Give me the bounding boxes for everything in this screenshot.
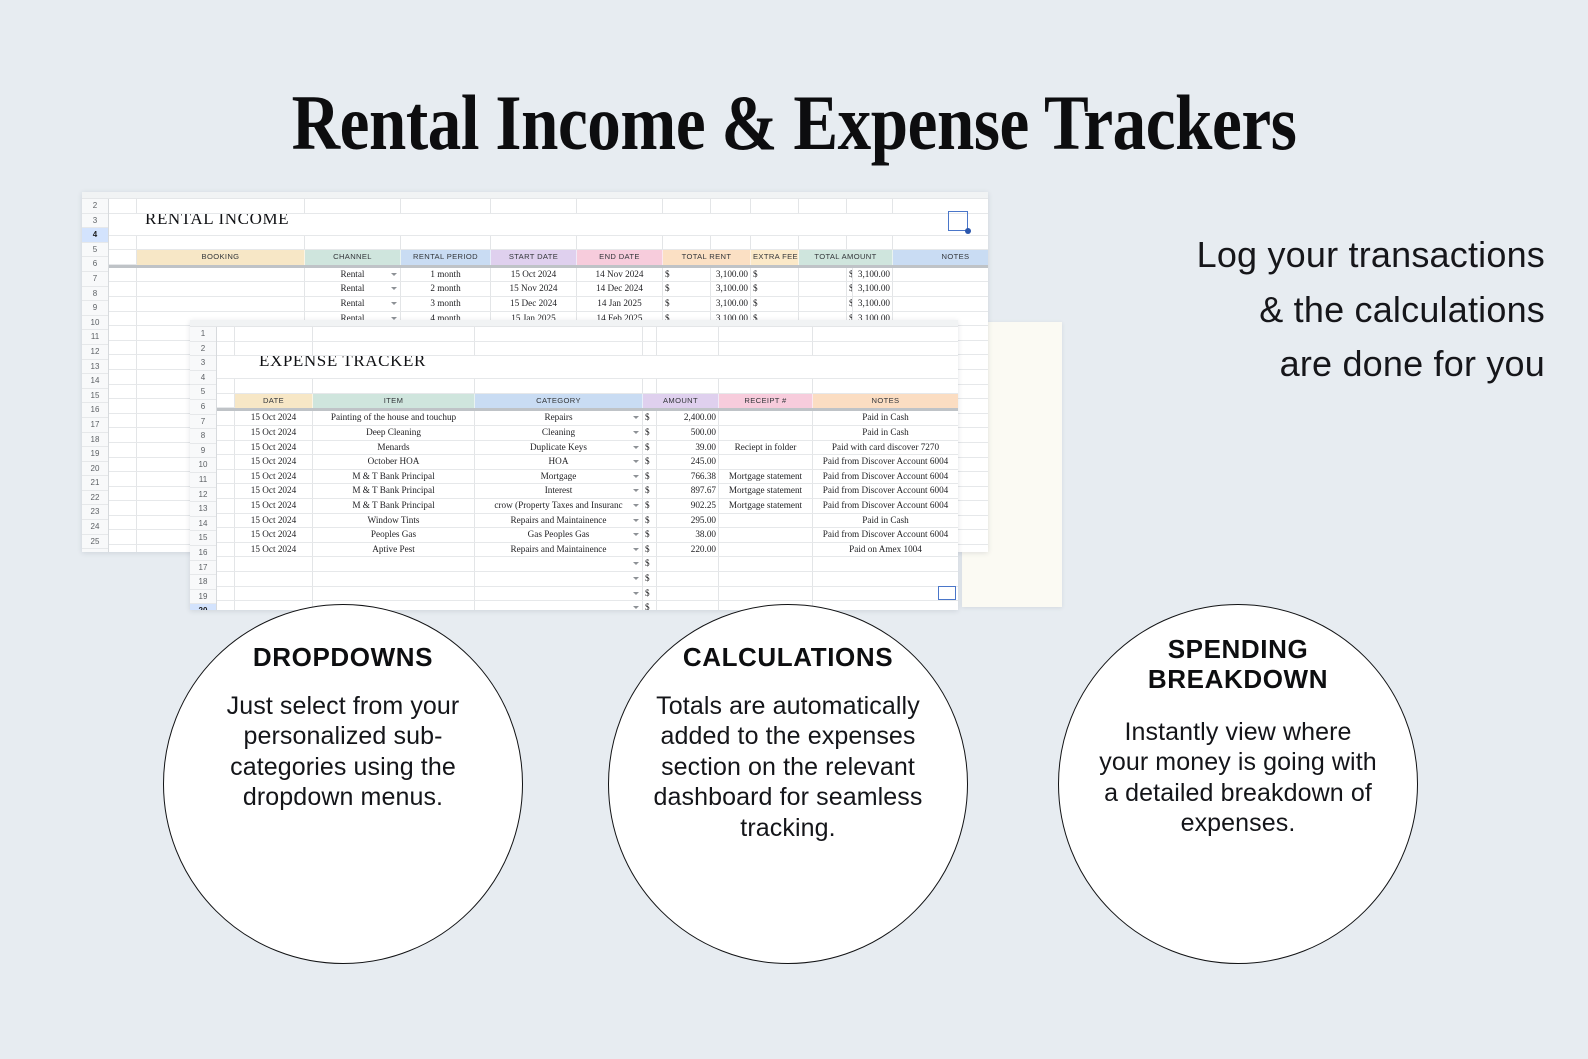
chevron-down-icon[interactable] — [633, 548, 639, 551]
cell[interactable] — [577, 199, 663, 214]
cell[interactable]: $ — [751, 268, 799, 283]
cell[interactable]: 38.00 — [657, 528, 719, 543]
row-number[interactable]: 10 — [82, 316, 108, 331]
row-number-gutter[interactable]: 2345678910111213141516171819202122232425 — [82, 199, 109, 552]
cell[interactable] — [893, 199, 988, 214]
cell[interactable]: $ — [643, 601, 657, 610]
row-number[interactable]: 16 — [190, 546, 216, 561]
cell[interactable] — [491, 236, 577, 251]
row-number[interactable]: 11 — [190, 473, 216, 488]
row-number[interactable]: 16 — [82, 403, 108, 418]
cell[interactable]: $ — [643, 528, 657, 543]
column-header[interactable]: DATE — [235, 394, 313, 409]
row-number[interactable]: 9 — [82, 301, 108, 316]
cell[interactable] — [799, 236, 847, 251]
row-number[interactable]: 3 — [190, 356, 216, 371]
cell[interactable] — [109, 312, 137, 327]
column-header[interactable]: TOTAL AMOUNT — [799, 250, 893, 265]
cell[interactable]: $ — [643, 470, 657, 485]
cell[interactable] — [657, 572, 719, 587]
chevron-down-icon[interactable] — [633, 416, 639, 419]
cell[interactable]: Paid from Discover Account 6004 — [813, 499, 958, 514]
cell[interactable] — [109, 443, 137, 458]
cell[interactable]: Painting of the house and touchup — [313, 411, 475, 426]
cell[interactable] — [217, 484, 235, 499]
cell[interactable]: $ — [643, 572, 657, 587]
table-row[interactable]: 15 Oct 2024M & T Bank Principalcrow (Pro… — [217, 499, 958, 514]
cell[interactable]: Paid from Discover Account 6004 — [813, 528, 958, 543]
column-header[interactable]: NOTES — [813, 394, 958, 409]
cell[interactable]: 39.00 — [657, 441, 719, 456]
cell[interactable]: Cleaning — [475, 426, 643, 441]
cell[interactable] — [799, 199, 847, 214]
cell[interactable] — [217, 572, 235, 587]
cell[interactable]: $ — [643, 514, 657, 529]
row-number[interactable]: 22 — [82, 491, 108, 506]
cell[interactable] — [813, 557, 958, 572]
cell[interactable] — [217, 587, 235, 602]
cell[interactable]: 15 Oct 2024 — [235, 484, 313, 499]
table-row[interactable]: 15 Oct 2024M & T Bank PrincipalMortgage$… — [217, 470, 958, 485]
cell[interactable]: 1 month — [401, 268, 491, 283]
cell[interactable] — [313, 327, 475, 342]
row-number[interactable]: 2 — [190, 342, 216, 357]
cell[interactable] — [217, 342, 235, 357]
chevron-down-icon[interactable] — [633, 431, 639, 434]
cell[interactable] — [847, 199, 893, 214]
cell[interactable] — [235, 557, 313, 572]
row-number[interactable]: 17 — [82, 418, 108, 433]
cell[interactable]: 15 Oct 2024 — [235, 528, 313, 543]
cell[interactable]: Rental — [305, 282, 401, 297]
chevron-down-icon[interactable] — [633, 446, 639, 449]
cell[interactable]: 15 Oct 2024 — [235, 441, 313, 456]
expense-tracker-grid[interactable]: EXPENSE TRACKERDATEITEMCATEGORYAMOUNTREC… — [217, 327, 958, 610]
row-number[interactable]: 18 — [82, 433, 108, 448]
cell[interactable]: 295.00 — [657, 514, 719, 529]
cell[interactable]: $ — [643, 455, 657, 470]
cell-selection-box[interactable] — [948, 211, 968, 231]
cell[interactable] — [217, 514, 235, 529]
chevron-down-icon[interactable] — [633, 577, 639, 580]
cell[interactable] — [217, 426, 235, 441]
row-number[interactable]: 5 — [190, 385, 216, 400]
cell[interactable] — [109, 385, 137, 400]
cell[interactable] — [217, 411, 235, 426]
chevron-down-icon[interactable] — [391, 287, 397, 290]
cell[interactable] — [475, 601, 643, 610]
cell[interactable] — [217, 455, 235, 470]
table-row[interactable]: 15 Oct 2024Peoples GasGas Peoples Gas$38… — [217, 528, 958, 543]
cell[interactable] — [109, 501, 137, 516]
cell[interactable] — [313, 587, 475, 602]
table-row[interactable]: Rental3 month15 Dec 202414 Jan 2025$3,10… — [109, 297, 988, 312]
row-number[interactable]: 10 — [190, 458, 216, 473]
row-number[interactable]: 15 — [190, 531, 216, 546]
cell[interactable]: Gas Peoples Gas — [475, 528, 643, 543]
cell[interactable] — [719, 379, 813, 394]
cell[interactable] — [813, 587, 958, 602]
column-header[interactable]: CATEGORY — [475, 394, 643, 409]
cell[interactable] — [799, 268, 847, 283]
cell[interactable]: 14 Dec 2024 — [577, 282, 663, 297]
chevron-down-icon[interactable] — [633, 533, 639, 536]
cell[interactable]: M & T Bank Principal — [313, 470, 475, 485]
row-number[interactable]: 8 — [190, 429, 216, 444]
cell[interactable] — [109, 355, 137, 370]
cell[interactable]: 15 Oct 2024 — [235, 514, 313, 529]
column-header[interactable]: ITEM — [313, 394, 475, 409]
cell[interactable] — [313, 379, 475, 394]
cell[interactable] — [491, 199, 577, 214]
cell[interactable]: 15 Oct 2024 — [235, 470, 313, 485]
cell[interactable] — [109, 370, 137, 385]
cell[interactable] — [475, 557, 643, 572]
cell[interactable]: 3,100.00 — [711, 268, 751, 283]
row-number[interactable]: 14 — [82, 374, 108, 389]
cell[interactable] — [137, 199, 305, 214]
cell[interactable] — [305, 236, 401, 251]
cell[interactable] — [719, 426, 813, 441]
cell[interactable] — [305, 199, 401, 214]
row-number[interactable]: 1 — [190, 327, 216, 342]
row-number[interactable]: 4 — [82, 228, 108, 243]
cell[interactable]: Paid from Discover Account 6004 — [813, 470, 958, 485]
cell[interactable] — [217, 379, 235, 394]
cell[interactable] — [799, 297, 847, 312]
cell[interactable]: Repairs and Maintainence — [475, 543, 643, 558]
cell[interactable] — [137, 282, 305, 297]
cell[interactable]: 14 Jan 2025 — [577, 297, 663, 312]
cell[interactable] — [719, 587, 813, 602]
cell[interactable]: 245.00 — [657, 455, 719, 470]
column-header[interactable]: AMOUNT — [643, 394, 719, 409]
cell[interactable] — [577, 236, 663, 251]
cell[interactable] — [799, 282, 847, 297]
cell[interactable]: Repairs and Maintainence — [475, 514, 643, 529]
cell[interactable] — [663, 236, 711, 251]
cell[interactable] — [475, 572, 643, 587]
cell[interactable] — [719, 342, 813, 357]
cell[interactable] — [663, 199, 711, 214]
cell[interactable] — [719, 528, 813, 543]
cell[interactable]: Paid in Cash — [813, 514, 958, 529]
row-number[interactable]: 24 — [82, 520, 108, 535]
cell[interactable] — [217, 470, 235, 485]
row-number[interactable]: 4 — [190, 371, 216, 386]
cell[interactable] — [109, 282, 137, 297]
cell[interactable]: M & T Bank Principal — [313, 499, 475, 514]
cell[interactable]: 3,100.00 — [853, 268, 893, 283]
expense-tracker-spreadsheet[interactable]: 1234567891011121314151617181920 EXPENSE … — [190, 320, 958, 610]
cell[interactable] — [109, 516, 137, 531]
column-header[interactable]: NOTES — [893, 250, 988, 265]
row-number[interactable]: 13 — [82, 360, 108, 375]
table-row[interactable] — [217, 327, 958, 342]
chevron-down-icon[interactable] — [633, 606, 639, 609]
table-row[interactable] — [217, 379, 958, 394]
chevron-down-icon[interactable] — [633, 475, 639, 478]
row-number[interactable]: 11 — [82, 330, 108, 345]
row-number[interactable]: 23 — [82, 505, 108, 520]
cell[interactable]: $ — [643, 484, 657, 499]
chevron-down-icon[interactable] — [633, 460, 639, 463]
cell[interactable] — [719, 455, 813, 470]
cell[interactable] — [137, 268, 305, 283]
table-row[interactable]: $ — [217, 572, 958, 587]
fill-handle[interactable] — [965, 228, 971, 234]
cell[interactable] — [109, 545, 137, 552]
cell[interactable]: 3,100.00 — [853, 297, 893, 312]
table-row[interactable]: 15 Oct 2024MenardsDuplicate Keys$39.00Re… — [217, 441, 958, 456]
cell[interactable] — [217, 441, 235, 456]
row-number[interactable]: 21 — [82, 476, 108, 491]
cell[interactable] — [475, 587, 643, 602]
cell[interactable] — [643, 327, 657, 342]
cell[interactable] — [475, 342, 643, 357]
cell[interactable] — [813, 327, 958, 342]
table-row[interactable]: 15 Oct 2024Deep CleaningCleaning$500.00P… — [217, 426, 958, 441]
cell[interactable]: Paid from Discover Account 6004 — [813, 484, 958, 499]
cell[interactable]: Repairs — [475, 411, 643, 426]
cell[interactable]: Paid in Cash — [813, 426, 958, 441]
row-number[interactable]: 6 — [190, 400, 216, 415]
cell[interactable]: Peoples Gas — [313, 528, 475, 543]
cell[interactable] — [893, 282, 988, 297]
cell[interactable] — [719, 572, 813, 587]
cell[interactable] — [719, 514, 813, 529]
cell[interactable]: Duplicate Keys — [475, 441, 643, 456]
row-number[interactable]: 3 — [82, 214, 108, 229]
cell[interactable]: Rental — [305, 297, 401, 312]
row-number-gutter[interactable]: 1234567891011121314151617181920 — [190, 327, 217, 610]
cell[interactable] — [813, 379, 958, 394]
cell[interactable] — [313, 572, 475, 587]
cell[interactable] — [719, 557, 813, 572]
cell[interactable]: Window Tints — [313, 514, 475, 529]
cell[interactable] — [217, 499, 235, 514]
row-number[interactable]: 17 — [190, 561, 216, 576]
cell[interactable]: $ — [643, 411, 657, 426]
cell[interactable]: M & T Bank Principal — [313, 484, 475, 499]
cell[interactable]: 3,100.00 — [853, 282, 893, 297]
cell[interactable]: 15 Oct 2024 — [235, 499, 313, 514]
cell[interactable] — [109, 428, 137, 443]
table-row[interactable]: 15 Oct 2024October HOAHOA$245.00Paid fro… — [217, 455, 958, 470]
cell[interactable] — [657, 342, 719, 357]
table-row[interactable] — [109, 199, 988, 214]
cell[interactable]: Reciept in folder — [719, 441, 813, 456]
cell[interactable] — [711, 236, 751, 251]
cell[interactable]: $ — [663, 268, 711, 283]
cell[interactable]: 3 month — [401, 297, 491, 312]
cell[interactable] — [109, 399, 137, 414]
cell[interactable] — [719, 327, 813, 342]
cell[interactable] — [813, 601, 958, 610]
chevron-down-icon[interactable] — [633, 519, 639, 522]
cell[interactable] — [719, 411, 813, 426]
row-number[interactable]: 20 — [82, 462, 108, 477]
cell[interactable] — [235, 379, 313, 394]
cell[interactable] — [813, 342, 958, 357]
cell[interactable]: Mortgage statement — [719, 484, 813, 499]
cell[interactable]: 15 Oct 2024 — [491, 268, 577, 283]
cell[interactable]: Interest — [475, 484, 643, 499]
cell[interactable]: Paid from Discover Account 6004 — [813, 455, 958, 470]
cell[interactable]: $ — [663, 282, 711, 297]
cell[interactable] — [657, 379, 719, 394]
cell[interactable] — [109, 199, 137, 214]
cell[interactable] — [217, 528, 235, 543]
cell[interactable]: 14 Nov 2024 — [577, 268, 663, 283]
cell[interactable]: $ — [751, 297, 799, 312]
cell[interactable] — [813, 572, 958, 587]
row-number[interactable]: 18 — [190, 575, 216, 590]
cell[interactable] — [643, 379, 657, 394]
cell[interactable] — [401, 199, 491, 214]
column-header[interactable]: EXTRA FEES — [751, 250, 799, 265]
row-number[interactable]: 7 — [190, 415, 216, 430]
cell[interactable] — [657, 601, 719, 610]
cell[interactable]: Paid with card discover 7270 — [813, 441, 958, 456]
column-header[interactable]: START DATE — [491, 250, 577, 265]
cell[interactable]: Rental — [305, 268, 401, 283]
cell[interactable] — [109, 268, 137, 283]
cell[interactable] — [313, 342, 475, 357]
cell[interactable]: 766.38 — [657, 470, 719, 485]
cell[interactable]: 3,100.00 — [711, 282, 751, 297]
cell[interactable]: HOA — [475, 455, 643, 470]
cell[interactable]: Aptive Pest — [313, 543, 475, 558]
row-number[interactable]: 15 — [82, 389, 108, 404]
table-row[interactable]: Rental2 month15 Nov 202414 Dec 2024$3,10… — [109, 282, 988, 297]
cell[interactable] — [109, 487, 137, 502]
cell[interactable]: 15 Oct 2024 — [235, 455, 313, 470]
table-row[interactable]: $ — [217, 587, 958, 602]
row-number[interactable]: 6 — [82, 257, 108, 272]
cell[interactable] — [109, 530, 137, 545]
cell[interactable]: 220.00 — [657, 543, 719, 558]
cell[interactable]: 897.67 — [657, 484, 719, 499]
cell[interactable] — [235, 327, 313, 342]
cell[interactable] — [235, 587, 313, 602]
cell[interactable] — [109, 458, 137, 473]
table-row[interactable] — [217, 342, 958, 357]
cell[interactable]: Paid on Amex 1004 — [813, 543, 958, 558]
row-number[interactable]: 8 — [82, 287, 108, 302]
cell[interactable]: $ — [643, 426, 657, 441]
cell[interactable]: 15 Dec 2024 — [491, 297, 577, 312]
column-header[interactable]: CHANNEL — [305, 250, 401, 265]
cell[interactable] — [475, 379, 643, 394]
row-number[interactable]: 5 — [82, 243, 108, 258]
cell[interactable] — [893, 268, 988, 283]
cell[interactable]: Mortgage — [475, 470, 643, 485]
chevron-down-icon[interactable] — [633, 504, 639, 507]
cell[interactable]: 500.00 — [657, 426, 719, 441]
cell[interactable] — [137, 236, 305, 251]
row-number[interactable]: 20 — [190, 604, 216, 610]
chevron-down-icon[interactable] — [633, 489, 639, 492]
cell[interactable]: 2 month — [401, 282, 491, 297]
cell[interactable] — [137, 297, 305, 312]
table-row[interactable]: 15 Oct 2024Painting of the house and tou… — [217, 411, 958, 426]
chevron-down-icon[interactable] — [633, 562, 639, 565]
column-header[interactable]: BOOKING — [137, 250, 305, 265]
table-row[interactable]: 15 Oct 2024Window TintsRepairs and Maint… — [217, 514, 958, 529]
cell[interactable]: crow (Property Taxes and Insuranc — [475, 499, 643, 514]
cell[interactable] — [217, 327, 235, 342]
cell[interactable] — [751, 236, 799, 251]
cell[interactable] — [893, 297, 988, 312]
cell[interactable]: $ — [643, 499, 657, 514]
cell[interactable]: 2,400.00 — [657, 411, 719, 426]
cell[interactable]: 15 Oct 2024 — [235, 411, 313, 426]
cell[interactable] — [235, 342, 313, 357]
cell[interactable] — [235, 572, 313, 587]
cell[interactable]: Deep Cleaning — [313, 426, 475, 441]
row-number[interactable]: 9 — [190, 444, 216, 459]
cell[interactable]: 15 Oct 2024 — [235, 426, 313, 441]
cell[interactable] — [401, 236, 491, 251]
cell[interactable] — [109, 326, 137, 341]
row-number[interactable]: 19 — [190, 590, 216, 605]
column-header[interactable]: RECEIPT # — [719, 394, 813, 409]
cell[interactable] — [109, 414, 137, 429]
cell[interactable]: October HOA — [313, 455, 475, 470]
cell[interactable]: 3,100.00 — [711, 297, 751, 312]
table-row[interactable]: 15 Oct 2024Aptive PestRepairs and Mainta… — [217, 543, 958, 558]
cell[interactable] — [217, 543, 235, 558]
cell[interactable]: Menards — [313, 441, 475, 456]
cell[interactable] — [109, 472, 137, 487]
table-row[interactable] — [109, 236, 988, 251]
cell[interactable] — [719, 543, 813, 558]
cell[interactable]: 15 Nov 2024 — [491, 282, 577, 297]
cell[interactable]: Mortgage statement — [719, 499, 813, 514]
cell[interactable] — [217, 557, 235, 572]
row-number[interactable]: 14 — [190, 517, 216, 532]
cell[interactable] — [643, 342, 657, 357]
cell[interactable]: $ — [751, 282, 799, 297]
chevron-down-icon[interactable] — [391, 302, 397, 305]
row-number[interactable]: 13 — [190, 502, 216, 517]
cell[interactable] — [751, 199, 799, 214]
table-row[interactable]: 15 Oct 2024M & T Bank PrincipalInterest$… — [217, 484, 958, 499]
cell[interactable]: $ — [643, 441, 657, 456]
cell[interactable] — [711, 199, 751, 214]
row-number[interactable]: 12 — [82, 345, 108, 360]
cell[interactable] — [109, 236, 137, 251]
cell[interactable] — [847, 236, 893, 251]
column-header[interactable]: RENTAL PERIOD — [401, 250, 491, 265]
row-number[interactable]: 2 — [82, 199, 108, 214]
chevron-down-icon[interactable] — [391, 273, 397, 276]
row-number[interactable]: 7 — [82, 272, 108, 287]
cell[interactable] — [109, 341, 137, 356]
column-header[interactable]: TOTAL RENT — [663, 250, 751, 265]
cell[interactable]: 15 Oct 2024 — [235, 543, 313, 558]
cell[interactable]: $ — [643, 587, 657, 602]
cell[interactable]: $ — [643, 557, 657, 572]
cell[interactable] — [313, 557, 475, 572]
cell-selection-box[interactable] — [938, 586, 956, 600]
cell[interactable]: Paid in Cash — [813, 411, 958, 426]
row-number[interactable]: 12 — [190, 488, 216, 503]
cell[interactable] — [657, 557, 719, 572]
cell[interactable]: $ — [643, 543, 657, 558]
cell[interactable] — [475, 327, 643, 342]
